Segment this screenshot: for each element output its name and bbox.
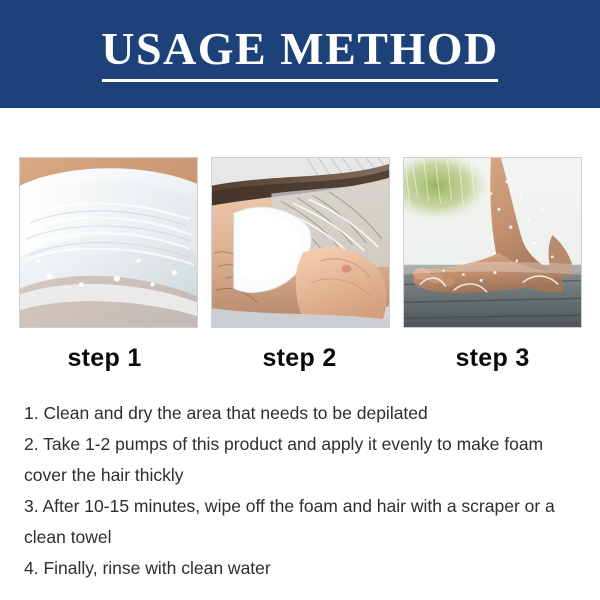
instruction-line-3: 3. After 10-15 minutes, wipe off the foa… [24, 491, 584, 553]
instruction-line-4: 4. Finally, rinse with clean water [24, 553, 584, 584]
scraper-removing-foam-photo [211, 157, 390, 328]
step-label-2: step 2 [209, 344, 390, 373]
header-banner: USAGE METHOD [0, 0, 600, 108]
page-title: USAGE METHOD [101, 26, 499, 82]
rinsing-feet-with-water-illustration [404, 158, 581, 327]
rinsing-feet-with-water-photo [403, 157, 582, 328]
steps-row: step 1 [19, 157, 582, 373]
instruction-line-2: 2. Take 1-2 pumps of this product and ap… [24, 429, 584, 491]
instructions-list: 1. Clean and dry the area that needs to … [24, 398, 584, 584]
instruction-line-1: 1. Clean and dry the area that needs to … [24, 398, 584, 429]
step-label-3: step 3 [403, 344, 582, 373]
step-label-1: step 1 [11, 344, 198, 373]
step-panel-3: step 3 [403, 157, 582, 373]
foam-applied-to-skin-photo [19, 157, 198, 328]
scraper-removing-foam-illustration [212, 158, 389, 327]
step-panel-1: step 1 [19, 157, 198, 373]
step-panel-2: step 2 [211, 157, 390, 373]
page-title-text: USAGE METHOD [101, 23, 499, 74]
title-underline [102, 79, 498, 82]
foam-applied-to-skin-illustration [20, 158, 197, 327]
